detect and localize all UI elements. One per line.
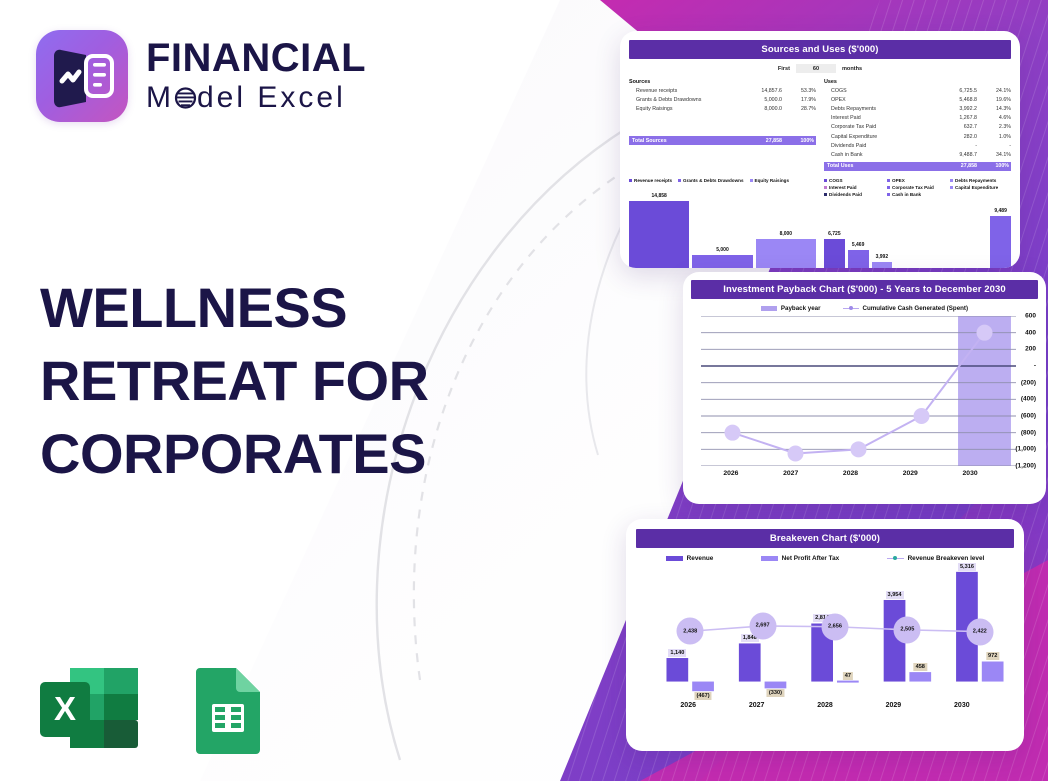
row-value: 14,857.6 bbox=[738, 87, 782, 96]
uses-table-row: Cash in Bank9,488.734.1% bbox=[824, 151, 1011, 160]
uses-chart-legend: COGSOPEXDebts RepaymentsInterest PaidCor… bbox=[824, 178, 1011, 197]
row-label: Debts Repayments bbox=[824, 105, 933, 114]
bar-value-label: 5,469 bbox=[852, 242, 865, 248]
sources-chart-legend: Revenue receiptsGrants & Debts Drawdowns… bbox=[629, 178, 816, 183]
sources-bar: 14,858 bbox=[629, 187, 689, 268]
revenue-value-label: 5,316 bbox=[958, 563, 976, 571]
uses-header: Uses bbox=[824, 79, 1011, 85]
uses-bar: 1,268 bbox=[895, 201, 916, 268]
row-percent: 53.3% bbox=[782, 87, 816, 96]
legend-revenue: Revenue bbox=[666, 555, 714, 562]
sources-uses-table: Sources Revenue receipts14,857.653.3%Gra… bbox=[629, 79, 1011, 171]
bar-value-label: 9,489 bbox=[994, 208, 1007, 214]
breakeven-chart-plot: 1,140(467)2,4381,848(330)2,6972,814472,6… bbox=[654, 566, 996, 696]
legend-breakeven-level: Revenue Breakeven level bbox=[887, 555, 985, 562]
payback-chart-legend: Payback year Cumulative Cash Generated (… bbox=[691, 305, 1038, 312]
payback-y-tick: (1,000) bbox=[1015, 446, 1036, 453]
breakeven-chart-title: Breakeven Chart ($'000) bbox=[636, 529, 1014, 548]
sources-chart-plot: 14,8585,0008,000 bbox=[629, 187, 816, 268]
bar bbox=[824, 239, 845, 268]
payback-x-tick: 2028 bbox=[821, 470, 881, 477]
bar-value-label: 5,000 bbox=[716, 247, 729, 253]
headline-line-2: RETREAT FOR bbox=[40, 345, 510, 418]
net-profit-value-label: 972 bbox=[986, 652, 999, 660]
bar bbox=[692, 255, 752, 268]
uses-column: Uses COGS6,725.524.1%OPEX5,468.819.6%Deb… bbox=[824, 79, 1011, 171]
row-percent: 2.3% bbox=[977, 123, 1011, 132]
uses-legend-item: Debts Repayments bbox=[950, 178, 1011, 183]
uses-table-row: Debts Repayments3,992.214.3% bbox=[824, 105, 1011, 114]
payback-y-tick: (400) bbox=[1021, 396, 1036, 403]
row-percent: 1.0% bbox=[977, 133, 1011, 142]
row-value: 5,000.0 bbox=[738, 96, 782, 105]
uses-legend-item: Dividends Paid bbox=[824, 192, 885, 197]
period-row: First 60 months bbox=[629, 64, 1011, 73]
bar bbox=[872, 262, 893, 268]
bar-value-label: 6,725 bbox=[828, 231, 841, 237]
svg-text:X: X bbox=[54, 690, 76, 727]
row-value: 282.0 bbox=[933, 133, 977, 142]
uses-bar: 282 bbox=[943, 201, 964, 268]
uses-legend-item: COGS bbox=[824, 178, 885, 183]
sources-legend-item: Grants & Debts Drawdowns bbox=[678, 178, 744, 183]
payback-y-tick: - bbox=[1034, 363, 1036, 370]
app-icons-row: X bbox=[36, 662, 268, 763]
payback-x-tick: 2029 bbox=[880, 470, 940, 477]
sources-table-row: Revenue receipts14,857.653.3% bbox=[629, 87, 816, 96]
uses-table-row: Capital Expenditure282.01.0% bbox=[824, 133, 1011, 142]
row-value: 632.7 bbox=[933, 123, 977, 132]
investment-payback-card: Investment Payback Chart ($'000) - 5 Yea… bbox=[683, 272, 1046, 504]
uses-table-row: OPEX5,468.819.6% bbox=[824, 96, 1011, 105]
row-percent: 4.6% bbox=[977, 114, 1011, 123]
legend-label: Corporate Tax Paid bbox=[892, 185, 934, 190]
uses-bar: 9,489 bbox=[990, 201, 1011, 268]
bar-value-label: 3,992 bbox=[876, 254, 889, 260]
row-label: Cash in Bank bbox=[824, 151, 933, 160]
sources-and-uses-card: Sources and Uses ($'000) First 60 months… bbox=[620, 31, 1020, 268]
net-profit-value-label: (330) bbox=[767, 689, 784, 697]
row-percent: - bbox=[977, 142, 1011, 151]
sources-table-row: Equity Raisings8,000.028.7% bbox=[629, 105, 816, 114]
payback-y-tick: (800) bbox=[1021, 429, 1036, 436]
legend-payback-year: Payback year bbox=[761, 305, 821, 312]
payback-chart-xaxis: 20262027202820292030 bbox=[701, 470, 1000, 477]
sources-column: Sources Revenue receipts14,857.653.3%Gra… bbox=[629, 79, 816, 171]
logo-title: FINANCIAL bbox=[146, 38, 366, 79]
bar-value-label: 8,000 bbox=[780, 231, 793, 237]
sources-bar: 8,000 bbox=[756, 187, 816, 268]
uses-bar: 3,992 bbox=[872, 201, 893, 268]
uses-bar: 6,725 bbox=[824, 201, 845, 268]
uses-table-row: Dividends Paid-- bbox=[824, 142, 1011, 151]
uses-legend-item: Capital Expenditure bbox=[950, 185, 1011, 190]
sources-table-row: Grants & Debts Drawdowns5,000.017.9% bbox=[629, 96, 816, 105]
row-value: 9,488.7 bbox=[933, 151, 977, 160]
row-value: 6,725.5 bbox=[933, 87, 977, 96]
sources-total-row: Total Sources 27,858 100% bbox=[629, 136, 816, 145]
row-value: - bbox=[933, 142, 977, 151]
legend-cumulative-cash: Cumulative Cash Generated (Spent) bbox=[843, 305, 969, 312]
logo-subtitle-m: M bbox=[146, 81, 174, 114]
breakeven-level-bubble: 2,438 bbox=[677, 618, 704, 645]
net-profit-value-label: 47 bbox=[843, 672, 853, 680]
legend-label: OPEX bbox=[892, 178, 905, 183]
payback-y-tick: (1,200) bbox=[1015, 463, 1036, 470]
row-label: Grants & Debts Drawdowns bbox=[629, 96, 738, 105]
headline-line-3: CORPORATES bbox=[40, 418, 510, 491]
uses-legend-item: Interest Paid bbox=[824, 185, 885, 190]
uses-bar: 5,469 bbox=[848, 201, 869, 268]
net-profit-value-label: 458 bbox=[914, 663, 927, 671]
uses-legend-item: Cash in Bank bbox=[887, 192, 948, 197]
sources-header: Sources bbox=[629, 79, 816, 85]
breakeven-x-tick: 2027 bbox=[722, 702, 790, 709]
row-label: COGS bbox=[824, 87, 933, 96]
legend-label: Cash in Bank bbox=[892, 192, 921, 197]
uses-rows: COGS6,725.524.1%OPEX5,468.819.6%Debts Re… bbox=[824, 87, 1011, 160]
breakeven-chart-xaxis: 20262027202820292030 bbox=[654, 702, 996, 709]
row-label: Capital Expenditure bbox=[824, 133, 933, 142]
sources-uses-charts: Revenue receiptsGrants & Debts Drawdowns… bbox=[629, 178, 1011, 268]
legend-label: Dividends Paid bbox=[829, 192, 862, 197]
uses-table-row: Interest Paid1,267.84.6% bbox=[824, 114, 1011, 123]
row-label: OPEX bbox=[824, 96, 933, 105]
period-suffix-label: months bbox=[842, 66, 862, 72]
row-value: 3,992.2 bbox=[933, 105, 977, 114]
revenue-value-label: 1,140 bbox=[668, 649, 686, 657]
legend-label: Debts Repayments bbox=[955, 178, 996, 183]
legend-label: Equity Raisings bbox=[755, 178, 789, 183]
row-label: Revenue receipts bbox=[629, 87, 738, 96]
row-value: 1,267.8 bbox=[933, 114, 977, 123]
sources-total-label: Total Sources bbox=[629, 138, 738, 144]
payback-x-tick: 2026 bbox=[701, 470, 761, 477]
sources-and-uses-title: Sources and Uses ($'000) bbox=[629, 40, 1011, 59]
payback-chart-plot: 600400200-(200)(400)(600)(800)(1,000)(1,… bbox=[701, 316, 1000, 466]
legend-label: Grants & Debts Drawdowns bbox=[683, 178, 744, 183]
breakeven-x-tick: 2028 bbox=[791, 702, 859, 709]
legend-label: Capital Expenditure bbox=[955, 185, 998, 190]
sources-bar: 5,000 bbox=[692, 187, 752, 268]
row-percent: 14.3% bbox=[977, 105, 1011, 114]
payback-x-tick: 2027 bbox=[761, 470, 821, 477]
legend-label: Interest Paid bbox=[829, 185, 857, 190]
bar bbox=[848, 250, 869, 268]
microsoft-excel-icon: X bbox=[36, 662, 140, 763]
logo-subtitle-rest: del Excel bbox=[197, 81, 346, 114]
financial-model-excel-logo-icon bbox=[36, 30, 128, 122]
bar bbox=[990, 216, 1011, 268]
breakeven-x-tick: 2026 bbox=[654, 702, 722, 709]
breakeven-level-bubble: 2,697 bbox=[749, 612, 776, 639]
breakeven-chart-legend: Revenue Net Profit After Tax Revenue Bre… bbox=[642, 555, 1008, 562]
breakeven-x-tick: 2030 bbox=[928, 702, 996, 709]
uses-bar-chart: COGSOPEXDebts RepaymentsInterest PaidCor… bbox=[824, 178, 1011, 268]
uses-bar: 0 bbox=[967, 201, 988, 268]
row-label: Equity Raisings bbox=[629, 105, 738, 114]
revenue-value-label: 3,954 bbox=[886, 591, 904, 599]
page-title: WELLNESS RETREAT FOR CORPORATES bbox=[40, 272, 510, 490]
sources-bar-chart: Revenue receiptsGrants & Debts Drawdowns… bbox=[629, 178, 816, 268]
uses-legend-item: Corporate Tax Paid bbox=[887, 185, 948, 190]
sources-legend-item: Equity Raisings bbox=[750, 178, 789, 183]
legend-label: COGS bbox=[829, 178, 843, 183]
payback-y-tick: 200 bbox=[1025, 346, 1036, 353]
sources-rows: Revenue receipts14,857.653.3%Grants & De… bbox=[629, 87, 816, 114]
uses-total-label: Total Uses bbox=[824, 163, 933, 169]
uses-total-row: Total Uses 27,858 100% bbox=[824, 162, 1011, 171]
payback-y-tick: (200) bbox=[1021, 379, 1036, 386]
row-percent: 28.7% bbox=[782, 105, 816, 114]
row-percent: 34.1% bbox=[977, 151, 1011, 160]
row-percent: 24.1% bbox=[977, 87, 1011, 96]
uses-bar: 633 bbox=[919, 201, 940, 268]
breakeven-chart-card: Breakeven Chart ($'000) Revenue Net Prof… bbox=[626, 519, 1024, 751]
logo-subtitle: M del Excel bbox=[146, 81, 366, 114]
breakeven-x-tick: 2029 bbox=[859, 702, 927, 709]
uses-total-pct: 100% bbox=[977, 163, 1011, 169]
row-label: Corporate Tax Paid bbox=[824, 123, 933, 132]
breakeven-level-bubble: 2,656 bbox=[822, 613, 849, 640]
period-prefix-label: First bbox=[778, 66, 790, 72]
payback-chart-title: Investment Payback Chart ($'000) - 5 Yea… bbox=[691, 280, 1038, 299]
row-label: Interest Paid bbox=[824, 114, 933, 123]
logo-o-glyph-icon bbox=[174, 83, 197, 111]
uses-table-row: Corporate Tax Paid632.72.3% bbox=[824, 123, 1011, 132]
bar-value-label: 14,858 bbox=[652, 193, 667, 199]
row-value: 8,000.0 bbox=[738, 105, 782, 114]
google-sheets-icon bbox=[188, 662, 268, 763]
payback-y-tick: (600) bbox=[1021, 413, 1036, 420]
net-profit-value-label: (467) bbox=[695, 692, 712, 700]
uses-chart-plot: 6,7255,4693,9921,26863328209,489 bbox=[824, 201, 1011, 268]
bar bbox=[756, 239, 816, 268]
payback-y-tick: 600 bbox=[1025, 313, 1036, 320]
uses-legend-item: OPEX bbox=[887, 178, 948, 183]
sources-total-pct: 100% bbox=[782, 138, 816, 144]
breakeven-level-bubble: 2,505 bbox=[894, 616, 921, 643]
headline-line-1: WELLNESS bbox=[40, 272, 510, 345]
payback-y-tick: 400 bbox=[1025, 329, 1036, 336]
uses-table-row: COGS6,725.524.1% bbox=[824, 87, 1011, 96]
bar bbox=[629, 201, 689, 268]
legend-net-profit: Net Profit After Tax bbox=[761, 555, 840, 562]
breakeven-level-bubble: 2,422 bbox=[966, 618, 993, 645]
row-percent: 19.6% bbox=[977, 96, 1011, 105]
sources-legend-item: Revenue receipts bbox=[629, 178, 672, 183]
period-months-input[interactable]: 60 bbox=[796, 64, 836, 73]
legend-label: Revenue receipts bbox=[634, 178, 672, 183]
row-percent: 17.9% bbox=[782, 96, 816, 105]
brand-logo: FINANCIAL M del Excel bbox=[36, 30, 366, 122]
row-value: 5,468.8 bbox=[933, 96, 977, 105]
sources-total-value: 27,858 bbox=[738, 138, 782, 144]
payback-x-tick: 2030 bbox=[940, 470, 1000, 477]
uses-total-value: 27,858 bbox=[933, 163, 977, 169]
row-label: Dividends Paid bbox=[824, 142, 933, 151]
